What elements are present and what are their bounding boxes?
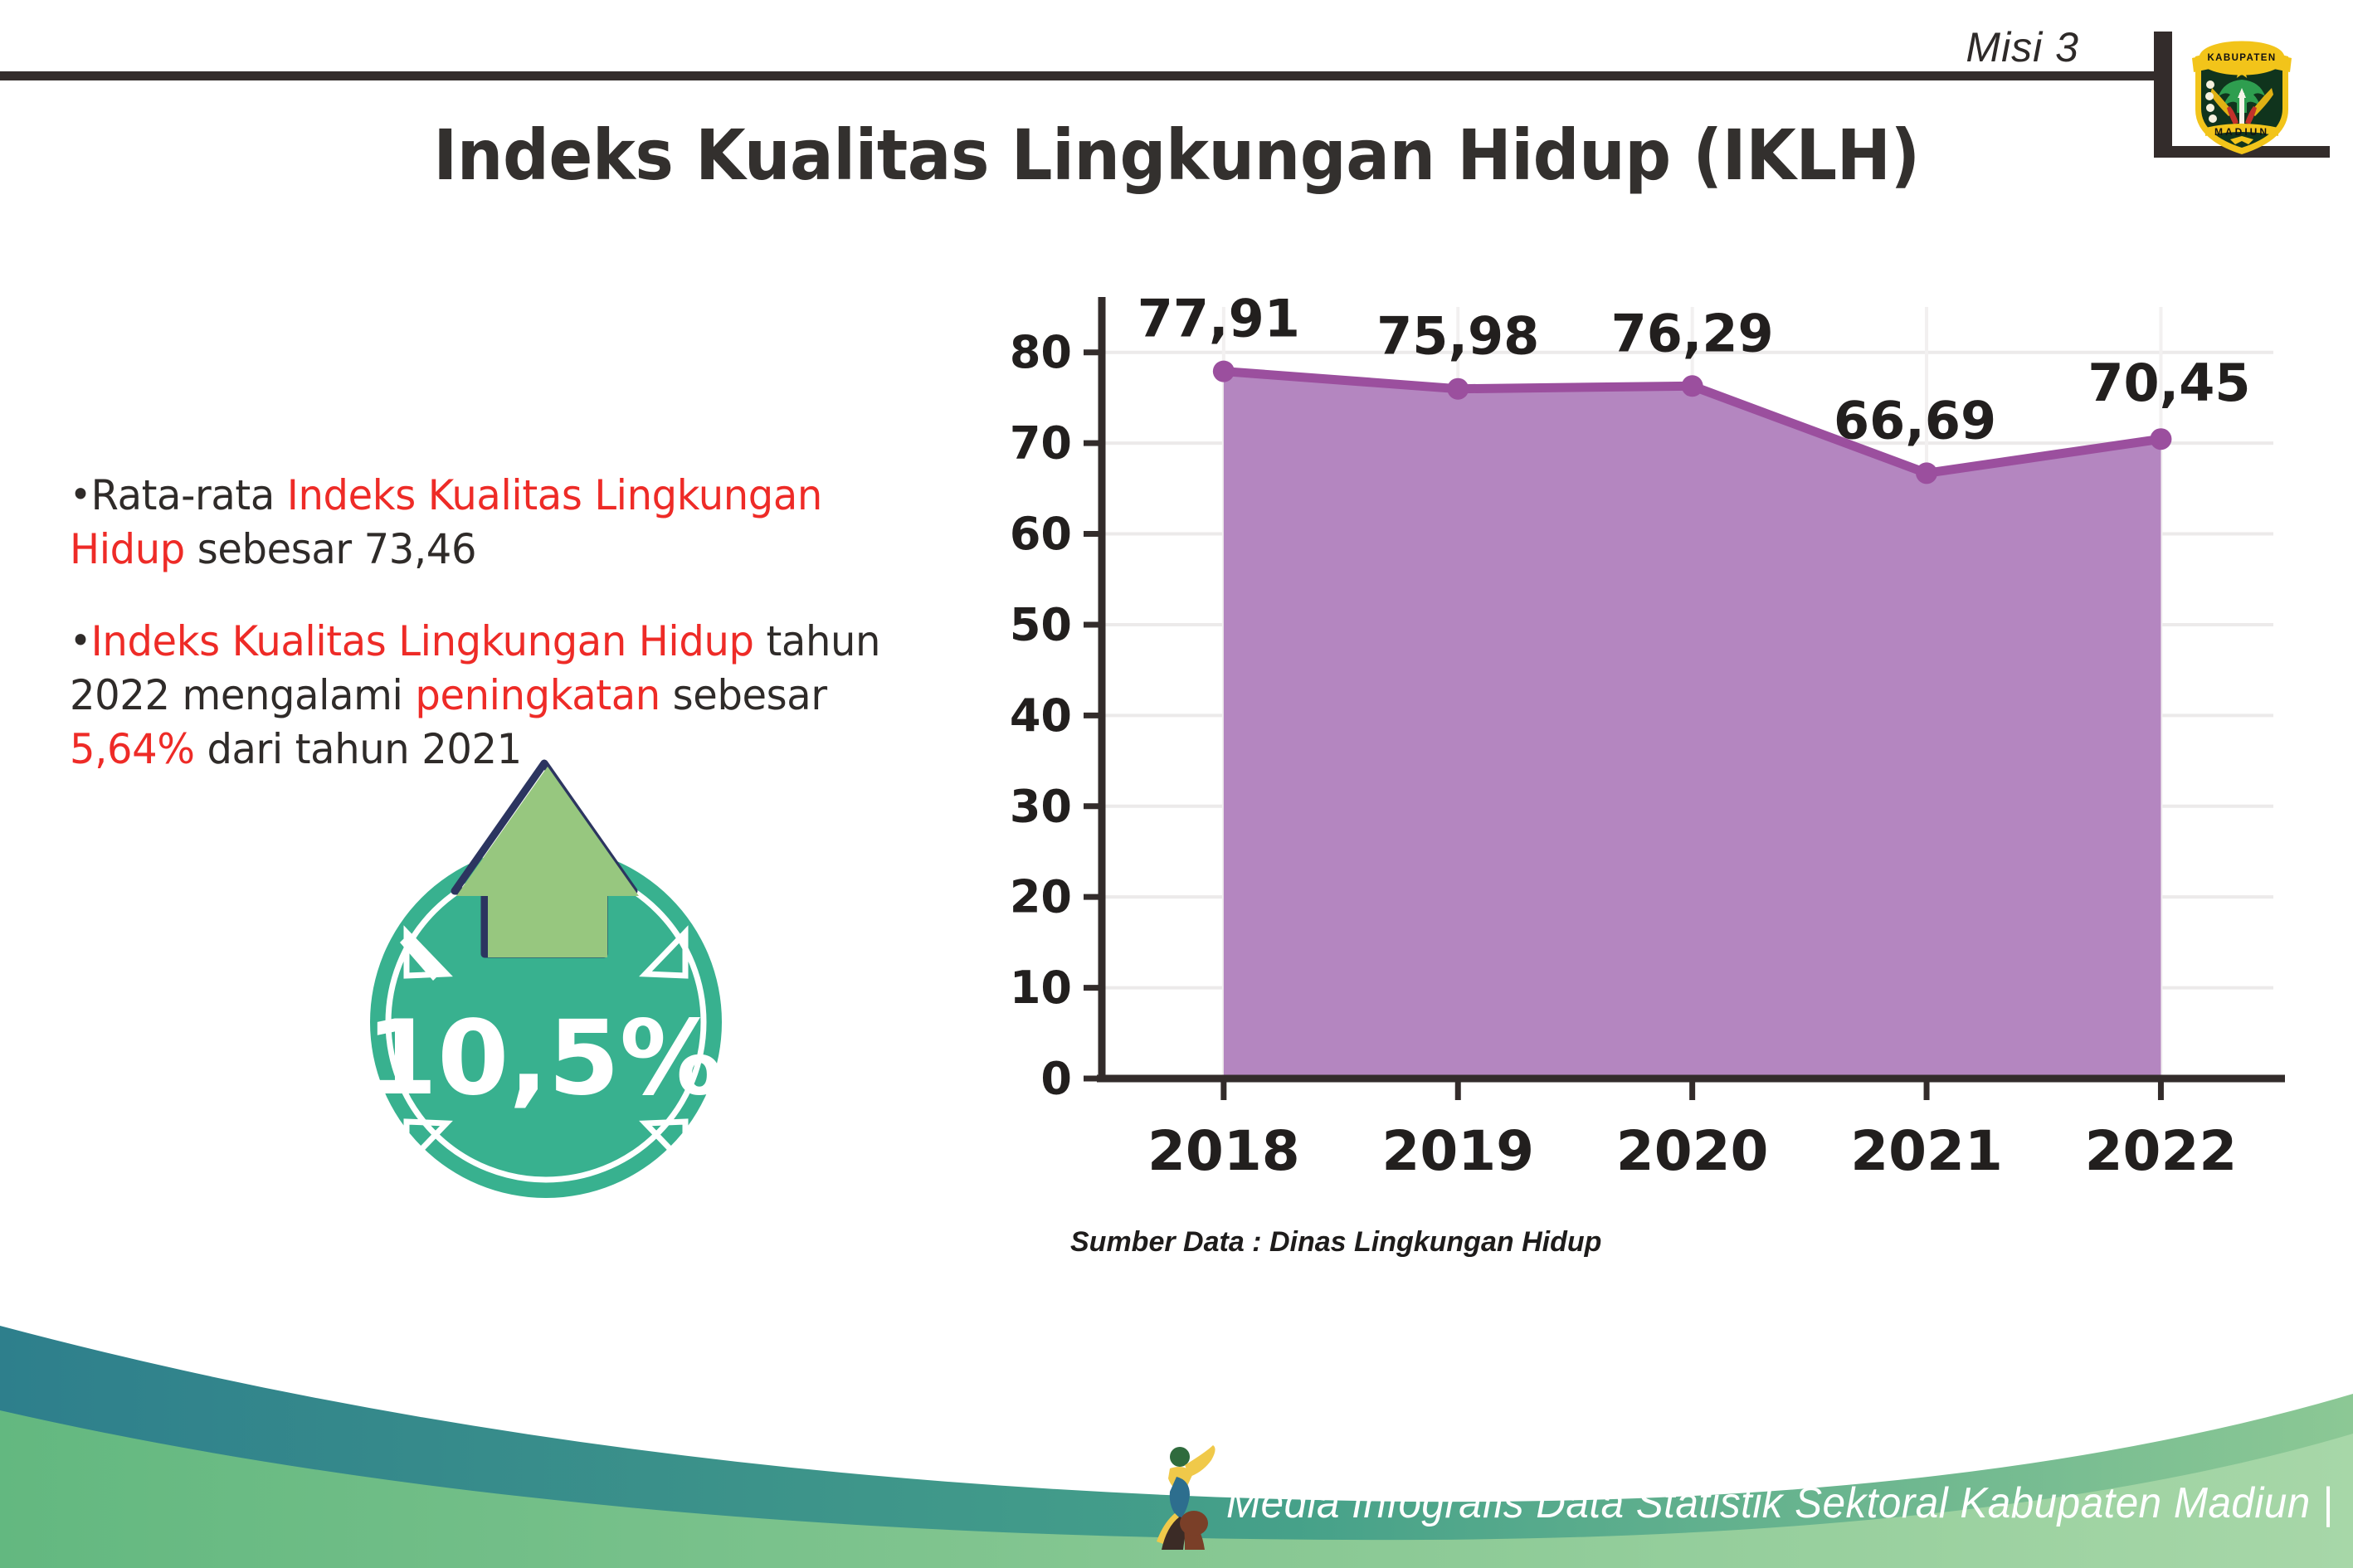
y-tick-label: 10 bbox=[1010, 962, 1072, 1014]
x-tick-label: 2019 bbox=[1381, 1119, 1534, 1183]
y-tick-label: 60 bbox=[1010, 508, 1072, 560]
y-tick-label: 70 bbox=[1010, 417, 1072, 470]
chart-data-label: 76,29 bbox=[1611, 303, 1774, 363]
header-rule bbox=[0, 71, 2164, 80]
bullet-item: •Rata-rata Indeks Kualitas Lingkungan Hi… bbox=[70, 469, 914, 577]
mission-label: Misi 3 bbox=[1966, 23, 2079, 71]
x-tick-label: 2022 bbox=[2085, 1119, 2238, 1183]
bullet-text-1c: sebesar 73,46 bbox=[185, 525, 476, 573]
y-tick-label: 40 bbox=[1010, 689, 1072, 742]
bullet-text-2c: peningkatan bbox=[415, 671, 660, 719]
x-tick-label: 2018 bbox=[1147, 1119, 1300, 1183]
bullet-item: •Indeks Kualitas Lingkungan Hidup tahun … bbox=[70, 615, 914, 777]
page-title: Indeks Kualitas Lingkungan Hidup (IKLH) bbox=[82, 114, 2270, 196]
bullet-text-2a: Indeks Kualitas Lingkungan Hidup bbox=[91, 617, 754, 665]
iklh-area-chart: 01020304050607080 20182019202020212022 7… bbox=[962, 290, 2290, 1220]
increase-badge: 10,5% bbox=[330, 757, 762, 1205]
chart-source-note: Sumber Data : Dinas Lingkungan Hidup bbox=[1070, 1226, 1601, 1259]
badge-value: 10,5% bbox=[366, 999, 723, 1118]
y-tick-label: 80 bbox=[1010, 326, 1072, 378]
y-tick-label: 0 bbox=[1040, 1053, 1072, 1105]
bullet-text-1a: Rata-rata bbox=[91, 471, 287, 519]
chart-data-label: 77,91 bbox=[1138, 290, 1300, 349]
chart-data-label: 75,98 bbox=[1376, 306, 1539, 367]
x-tick-label: 2020 bbox=[1616, 1119, 1769, 1183]
chart-y-tick-labels: 01020304050607080 bbox=[1010, 326, 1072, 1104]
statistics-person-icon bbox=[1147, 1444, 1226, 1550]
chart-x-tick-labels: 20182019202020212022 bbox=[1147, 1119, 2237, 1183]
x-tick-label: 2021 bbox=[1850, 1119, 2003, 1183]
bullet-text-2e: 5,64% bbox=[70, 725, 195, 773]
bullet-text-2d: sebesar bbox=[660, 671, 827, 719]
bullet-dot-icon: • bbox=[70, 472, 91, 517]
y-tick-label: 30 bbox=[1010, 780, 1072, 832]
infographic-slide: Misi 3 KABUPATEN MADIUN Indeks Kualitas … bbox=[0, 0, 2353, 1568]
chart-area-fill bbox=[1224, 372, 2161, 1079]
bullet-dot-icon: • bbox=[70, 618, 91, 663]
chart-data-label: 70,45 bbox=[2087, 353, 2250, 413]
y-tick-label: 20 bbox=[1010, 871, 1072, 923]
footer-caption: Media Infografis Data Statistik Sektoral… bbox=[1226, 1478, 2333, 1528]
chart-data-label: 66,69 bbox=[1834, 390, 1996, 450]
y-tick-label: 50 bbox=[1010, 598, 1072, 650]
svg-text:KABUPATEN: KABUPATEN bbox=[2207, 53, 2276, 63]
